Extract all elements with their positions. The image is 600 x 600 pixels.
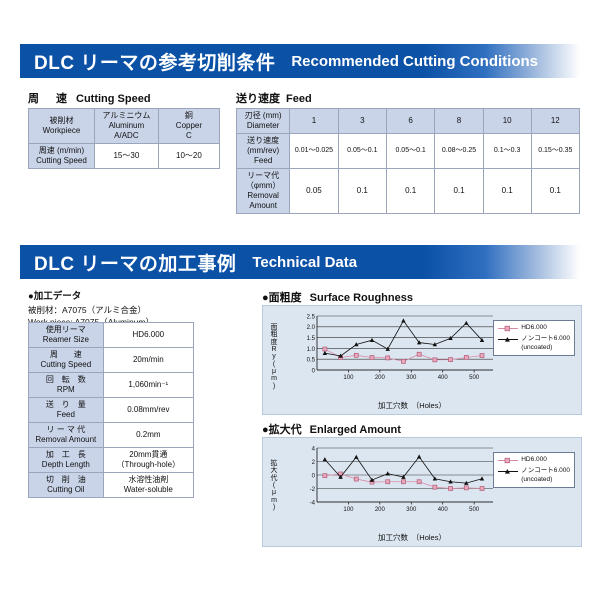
label-cutting-oil-jp: 切 削 油: [30, 475, 102, 485]
cutting-speed-heading-en: Cutting Speed: [76, 93, 151, 105]
svg-text:-2: -2: [310, 487, 316, 493]
svg-text:1.5: 1.5: [307, 336, 316, 342]
header-copper-jp: 銅: [160, 111, 218, 121]
svg-text:2.5: 2.5: [307, 314, 316, 320]
banner2-title-en: Technical Data: [252, 254, 357, 271]
section-banner-cutting-conditions: DLC リーマの参考切削条件 Recommended Cutting Condi…: [20, 44, 580, 78]
legend-triangle-marker-icon: [497, 468, 519, 475]
document-page: DLC リーマの参考切削条件 Recommended Cutting Condi…: [0, 0, 600, 600]
cell-feed-6: 0.05〜0.1: [386, 134, 434, 169]
legend-label-uncoated-sub: (uncoated): [521, 344, 570, 353]
svg-text:200: 200: [375, 375, 386, 381]
table-row: 送 り 量 Feed 0.08mm/rev: [29, 398, 194, 423]
value-feed: 0.08mm/rev: [103, 398, 193, 423]
svg-text:100: 100: [343, 507, 354, 513]
row-label-removal-en2: Amount: [238, 201, 288, 211]
label-cutting-oil: 切 削 油 Cutting Oil: [29, 473, 104, 498]
legend-label-uncoated-sub: (uncoated): [521, 476, 570, 485]
cell-removal-8: 0.1: [435, 169, 483, 214]
chart1-plot-area: 00.51.01.52.02.5100200300400500: [297, 312, 497, 384]
svg-text:300: 300: [406, 375, 417, 381]
feed-heading-jp: 送り速度: [236, 93, 280, 105]
cell-removal-6: 0.1: [386, 169, 434, 214]
svg-text:200: 200: [375, 507, 386, 513]
table-row: リ ー マ 代 Removal Amount 0.2mm: [29, 423, 194, 448]
header-diameter: 刃径 (mm) Diameter: [237, 109, 290, 134]
header-diameter-jp: 刃径 (mm): [238, 111, 288, 121]
y-axis-label-char: R: [269, 346, 279, 353]
section-banner-technical-data: DLC リーマの加工事例 Technical Data: [20, 245, 580, 279]
svg-text:0.5: 0.5: [307, 358, 316, 364]
feed-heading-en: Feed: [286, 93, 312, 105]
work-piece-jp: 被削材：A7075（アルミ合金）: [28, 304, 154, 316]
chart-panel-enlarged-amount: 拡大代(μm) -4-2024100200300400500 加工穴数 （Hol…: [262, 437, 582, 547]
header-workpiece-en: Workpiece: [30, 126, 93, 136]
y-axis-label-char: μ: [269, 368, 279, 375]
svg-text:500: 500: [469, 507, 480, 513]
header-diameter-3: 3: [338, 109, 386, 134]
table-row-header: 刃径 (mm) Diameter 1 3 6 8 10 12: [237, 109, 580, 134]
label-rpm-jp: 回 転 数: [30, 375, 102, 385]
legend-item-uncoated: ノンコート6.000: [497, 467, 570, 476]
label-cutting-speed-en: Cutting Speed: [30, 360, 102, 370]
cell-feed-10: 0.1〜0.3: [483, 134, 531, 169]
chart1-title-en: Surface Roughness: [310, 292, 413, 304]
svg-text:400: 400: [438, 507, 449, 513]
y-axis-label-char: 大: [269, 467, 279, 474]
value-depth-length: 20mm貫通 （Through-hole）: [103, 448, 193, 473]
row-label-removal-jp: リーマ代: [238, 171, 288, 181]
cell-removal-10: 0.1: [483, 169, 531, 214]
chart-title-surface-roughness: ●面粗度Surface Roughness: [262, 289, 413, 305]
row-label-removal-unit: （φmm）: [238, 181, 288, 191]
chart2-title-jp: ●拡大代: [262, 424, 302, 436]
legend-label-hd6000: HD6.000: [521, 456, 547, 465]
label-cutting-oil-en: Cutting Oil: [30, 485, 102, 495]
row-label-cutting-speed-en: Cutting Speed: [30, 156, 93, 166]
header-diameter-6: 6: [386, 109, 434, 134]
legend-item-hd6000: HD6.000: [497, 456, 570, 465]
legend-square-marker-icon: [497, 457, 519, 464]
chart2-legend: HD6.000ノンコート6.000(uncoated): [493, 452, 575, 488]
table-row: 切 削 油 Cutting Oil 水溶性油剤 Water-soluble: [29, 473, 194, 498]
chart1-y-axis-label: 面粗度Ry(μm): [269, 324, 279, 390]
y-axis-label-char: y: [269, 353, 279, 360]
svg-text:1.0: 1.0: [307, 347, 316, 353]
header-copper-grade: C: [160, 131, 218, 141]
banner-title-en: Recommended Cutting Conditions: [291, 53, 538, 70]
chart1-title-jp: ●面粗度: [262, 292, 302, 304]
chart1-legend: HD6.000ノンコート6.000(uncoated): [493, 320, 575, 356]
y-axis-label-char: (: [269, 482, 279, 489]
svg-text:100: 100: [343, 375, 354, 381]
y-axis-label-char: 代: [269, 475, 279, 482]
table-row-header: 被削材 Workpiece アルミニウム Aluminum A/ADC 銅 Co…: [29, 109, 220, 144]
label-cutting-speed-jp: 周 速: [30, 350, 102, 360]
value-rpm: 1,060min⁻¹: [103, 373, 193, 398]
label-feed: 送 り 量 Feed: [29, 398, 104, 423]
header-copper: 銅 Copper C: [158, 109, 219, 144]
label-cutting-speed: 周 速 Cutting Speed: [29, 348, 104, 373]
row-label-feed-en: Feed: [238, 156, 288, 166]
cell-speed-aluminum: 15〜30: [94, 144, 158, 169]
chart2-plot-area: -4-2024100200300400500: [297, 444, 497, 516]
label-removal-amount-jp: リ ー マ 代: [30, 425, 102, 435]
label-depth-length: 加 工 長 Depth Length: [29, 448, 104, 473]
cutting-speed-table: 被削材 Workpiece アルミニウム Aluminum A/ADC 銅 Co…: [28, 108, 220, 169]
chart2-x-axis-label: 加工穴数 （Holes）: [297, 532, 527, 543]
header-workpiece: 被削材 Workpiece: [29, 109, 95, 144]
header-diameter-8: 8: [435, 109, 483, 134]
label-reamer-size-en: Reamer Size: [30, 335, 102, 345]
table-row: 周 速 Cutting Speed 20m/min: [29, 348, 194, 373]
cutting-speed-heading-jp: 周 速: [28, 93, 70, 105]
chart1-x-axis-label: 加工穴数 （Holes）: [297, 400, 527, 411]
label-reamer-size-jp: 使用リーマ: [30, 325, 102, 335]
legend-item-uncoated: ノンコート6.000: [497, 335, 570, 344]
cell-feed-12: 0.15〜0.35: [531, 134, 579, 169]
chart2-y-axis-label: 拡大代(μm): [269, 460, 279, 511]
svg-text:0: 0: [312, 473, 316, 479]
header-diameter-12: 12: [531, 109, 579, 134]
table-row: 加 工 長 Depth Length 20mm貫通 （Through-hole）: [29, 448, 194, 473]
svg-text:2: 2: [312, 460, 316, 466]
cell-feed-3: 0.05〜0.1: [338, 134, 386, 169]
y-axis-label-char: 粗: [269, 331, 279, 338]
row-label-removal-en1: Removal: [238, 191, 288, 201]
table-row: リーマ代 （φmm） Removal Amount 0.05 0.1 0.1 0…: [237, 169, 580, 214]
feed-heading: 送り速度Feed: [236, 90, 312, 106]
legend-label-uncoated: ノンコート6.000: [521, 467, 570, 476]
header-diameter-10: 10: [483, 109, 531, 134]
y-axis-label-char: m: [269, 497, 279, 504]
header-aluminum-jp: アルミニウム: [96, 111, 157, 121]
label-reamer-size: 使用リーマ Reamer Size: [29, 323, 104, 348]
y-axis-label-char: ): [269, 504, 279, 511]
value-cutting-oil-jp: 水溶性油剤: [105, 475, 192, 485]
header-workpiece-jp: 被削材: [30, 116, 93, 126]
label-depth-length-en: Depth Length: [30, 460, 102, 470]
work-data-heading: ●加工データ: [28, 290, 154, 304]
chart2-title-en: Enlarged Amount: [310, 424, 401, 436]
header-copper-en: Copper: [160, 121, 218, 131]
legend-triangle-marker-icon: [497, 336, 519, 343]
y-axis-label-char: (: [269, 361, 279, 368]
y-axis-label-char: μ: [269, 489, 279, 496]
banner2-title-jp: DLC リーマの加工事例: [34, 249, 236, 276]
svg-text:4: 4: [312, 446, 316, 452]
cell-removal-3: 0.1: [338, 169, 386, 214]
cell-removal-1: 0.05: [290, 169, 338, 214]
table-row: 周速 (m/min) Cutting Speed 15〜30 10〜20: [29, 144, 220, 169]
label-depth-length-jp: 加 工 長: [30, 450, 102, 460]
y-axis-label-char: 度: [269, 339, 279, 346]
feed-table: 刃径 (mm) Diameter 1 3 6 8 10 12 送り速度 (mm/…: [236, 108, 580, 214]
chart-panel-surface-roughness: 面粗度Ry(μm) 00.51.01.52.02.510020030040050…: [262, 305, 582, 415]
value-cutting-oil-en: Water-soluble: [105, 485, 192, 495]
value-depth-length-jp: 20mm貫通: [105, 450, 192, 460]
row-label-cutting-speed: 周速 (m/min) Cutting Speed: [29, 144, 95, 169]
y-axis-label-char: m: [269, 375, 279, 382]
banner-title-jp: DLC リーマの参考切削条件: [34, 48, 275, 75]
header-diameter-1: 1: [290, 109, 338, 134]
row-label-feed-jp: 送り速度: [238, 136, 288, 146]
legend-square-marker-icon: [497, 325, 519, 332]
svg-text:300: 300: [406, 507, 417, 513]
cell-speed-copper: 10〜20: [158, 144, 219, 169]
cell-feed-8: 0.08〜0.25: [435, 134, 483, 169]
label-feed-jp: 送 り 量: [30, 400, 102, 410]
value-cutting-oil: 水溶性油剤 Water-soluble: [103, 473, 193, 498]
table-row: 回 転 数 RPM 1,060min⁻¹: [29, 373, 194, 398]
header-aluminum: アルミニウム Aluminum A/ADC: [94, 109, 158, 144]
cell-feed-1: 0.01〜0.025: [290, 134, 338, 169]
chart-title-enlarged-amount: ●拡大代Enlarged Amount: [262, 421, 401, 437]
value-cutting-speed: 20m/min: [103, 348, 193, 373]
row-label-feed: 送り速度 (mm/rev) Feed: [237, 134, 290, 169]
svg-text:400: 400: [438, 375, 449, 381]
table-row: 送り速度 (mm/rev) Feed 0.01〜0.025 0.05〜0.1 0…: [237, 134, 580, 169]
label-removal-amount: リ ー マ 代 Removal Amount: [29, 423, 104, 448]
label-rpm: 回 転 数 RPM: [29, 373, 104, 398]
row-label-removal: リーマ代 （φmm） Removal Amount: [237, 169, 290, 214]
table-row: 使用リーマ Reamer Size HD6.000: [29, 323, 194, 348]
label-rpm-en: RPM: [30, 385, 102, 395]
svg-text:0: 0: [312, 368, 316, 374]
legend-label-hd6000: HD6.000: [521, 324, 547, 333]
machining-data-table: 使用リーマ Reamer Size HD6.000 周 速 Cutting Sp…: [28, 322, 194, 498]
svg-text:2.0: 2.0: [307, 325, 316, 331]
cutting-speed-heading: 周 速Cutting Speed: [28, 90, 151, 106]
row-label-feed-unit: (mm/rev): [238, 146, 288, 156]
value-reamer-size: HD6.000: [103, 323, 193, 348]
y-axis-label-char: ): [269, 383, 279, 390]
row-label-cutting-speed-jp: 周速 (m/min): [30, 146, 93, 156]
legend-item-hd6000: HD6.000: [497, 324, 570, 333]
svg-text:-4: -4: [310, 500, 316, 506]
value-depth-length-en: （Through-hole）: [105, 460, 192, 470]
label-removal-amount-en: Removal Amount: [30, 435, 102, 445]
value-removal-amount: 0.2mm: [103, 423, 193, 448]
svg-text:500: 500: [469, 375, 480, 381]
cell-removal-12: 0.1: [531, 169, 579, 214]
legend-label-uncoated: ノンコート6.000: [521, 335, 570, 344]
label-feed-en: Feed: [30, 410, 102, 420]
header-diameter-en: Diameter: [238, 121, 288, 131]
header-aluminum-en: Aluminum: [96, 121, 157, 131]
header-aluminum-grade: A/ADC: [96, 131, 157, 141]
